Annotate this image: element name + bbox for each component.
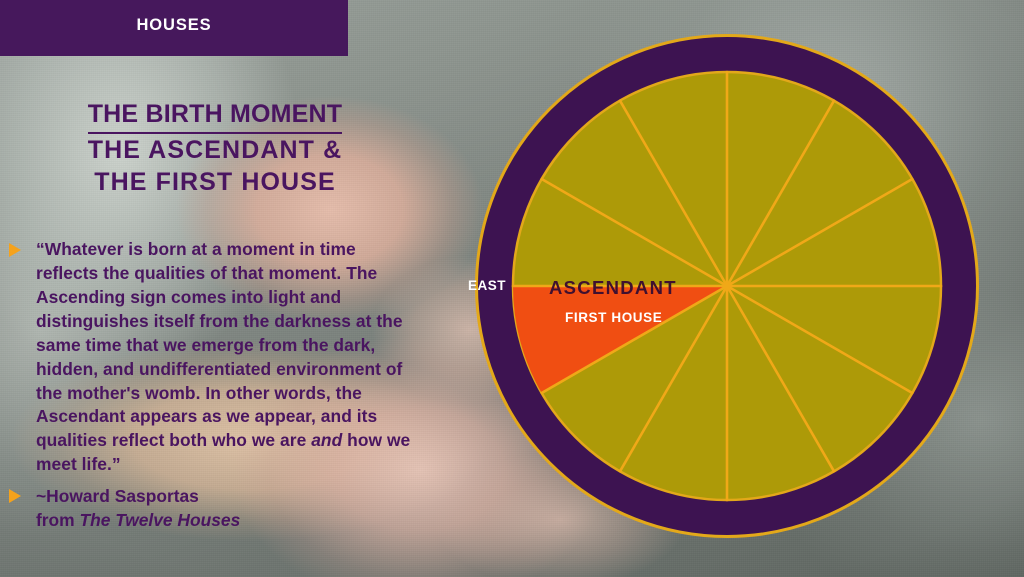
quote-emphasis-and: and [311, 430, 342, 450]
title-line-2: THE ASCENDANT & [10, 134, 420, 167]
attribution-book-title: The Twelve Houses [79, 510, 240, 530]
page-title: THE BIRTH MOMENT THE ASCENDANT & THE FIR… [10, 98, 420, 199]
triangle-right-bullet-icon [9, 243, 21, 257]
wheel-label-east: EAST [468, 278, 506, 293]
wheel-hub [724, 283, 730, 289]
triangle-right-bullet-icon [9, 489, 21, 503]
attribution: ~Howard Sasportas from The Twelve Houses [36, 484, 418, 533]
quote-part-1: “Whatever is born at a moment in time re… [36, 239, 403, 450]
wheel-label-first-house: FIRST HOUSE [565, 310, 662, 325]
title-line-1: THE BIRTH MOMENT [88, 98, 343, 134]
title-line-3: THE FIRST HOUSE [10, 166, 420, 199]
wheel-label-ascendant: ASCENDANT [549, 277, 677, 299]
header-banner-label: HOUSES [0, 16, 348, 35]
header-banner: HOUSES [0, 0, 348, 56]
attribution-source: from The Twelve Houses [36, 508, 418, 532]
slide-canvas: HOUSES THE BIRTH MOMENT THE ASCENDANT & … [0, 0, 1024, 577]
quote-text: “Whatever is born at a moment in time re… [36, 238, 418, 477]
attribution-author: ~Howard Sasportas [36, 484, 418, 508]
attribution-from-label: from [36, 510, 79, 530]
